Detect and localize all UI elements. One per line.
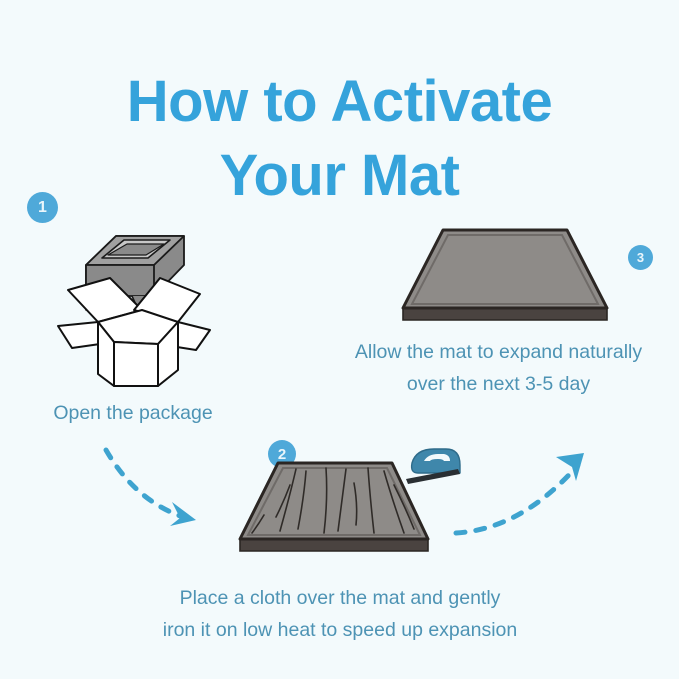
step-3-caption: Allow the mat to expand naturally over t…: [318, 337, 679, 400]
page-title-line-2: Your Mat: [0, 139, 679, 213]
page-title-line-1: How to Activate: [0, 65, 679, 139]
step-1-caption: Open the package: [0, 398, 266, 430]
step-3-badge: 3: [628, 245, 653, 270]
step-2-caption: Place a cloth over the mat and gently ir…: [110, 583, 570, 646]
arrow-step1-to-step2: [100, 440, 220, 540]
cardboard-box-icon: [50, 218, 220, 388]
step-1-number: 1: [38, 199, 47, 217]
floor-mat-icon: [395, 222, 615, 332]
step-2-caption-line-2: iron it on low heat to speed up expansio…: [110, 615, 570, 647]
arrow-step2-to-step3: [452, 443, 592, 543]
step-3-caption-line-2: over the next 3-5 day: [318, 369, 679, 401]
step-1-caption-line-1: Open the package: [0, 398, 266, 430]
step-2-caption-line-1: Place a cloth over the mat and gently: [110, 583, 570, 615]
page-title: How to Activate Your Mat: [0, 65, 679, 213]
step-3-caption-line-1: Allow the mat to expand naturally: [318, 337, 679, 369]
step-3-number: 3: [637, 250, 644, 265]
infographic-canvas: How to Activate Your Mat 1: [0, 0, 679, 679]
